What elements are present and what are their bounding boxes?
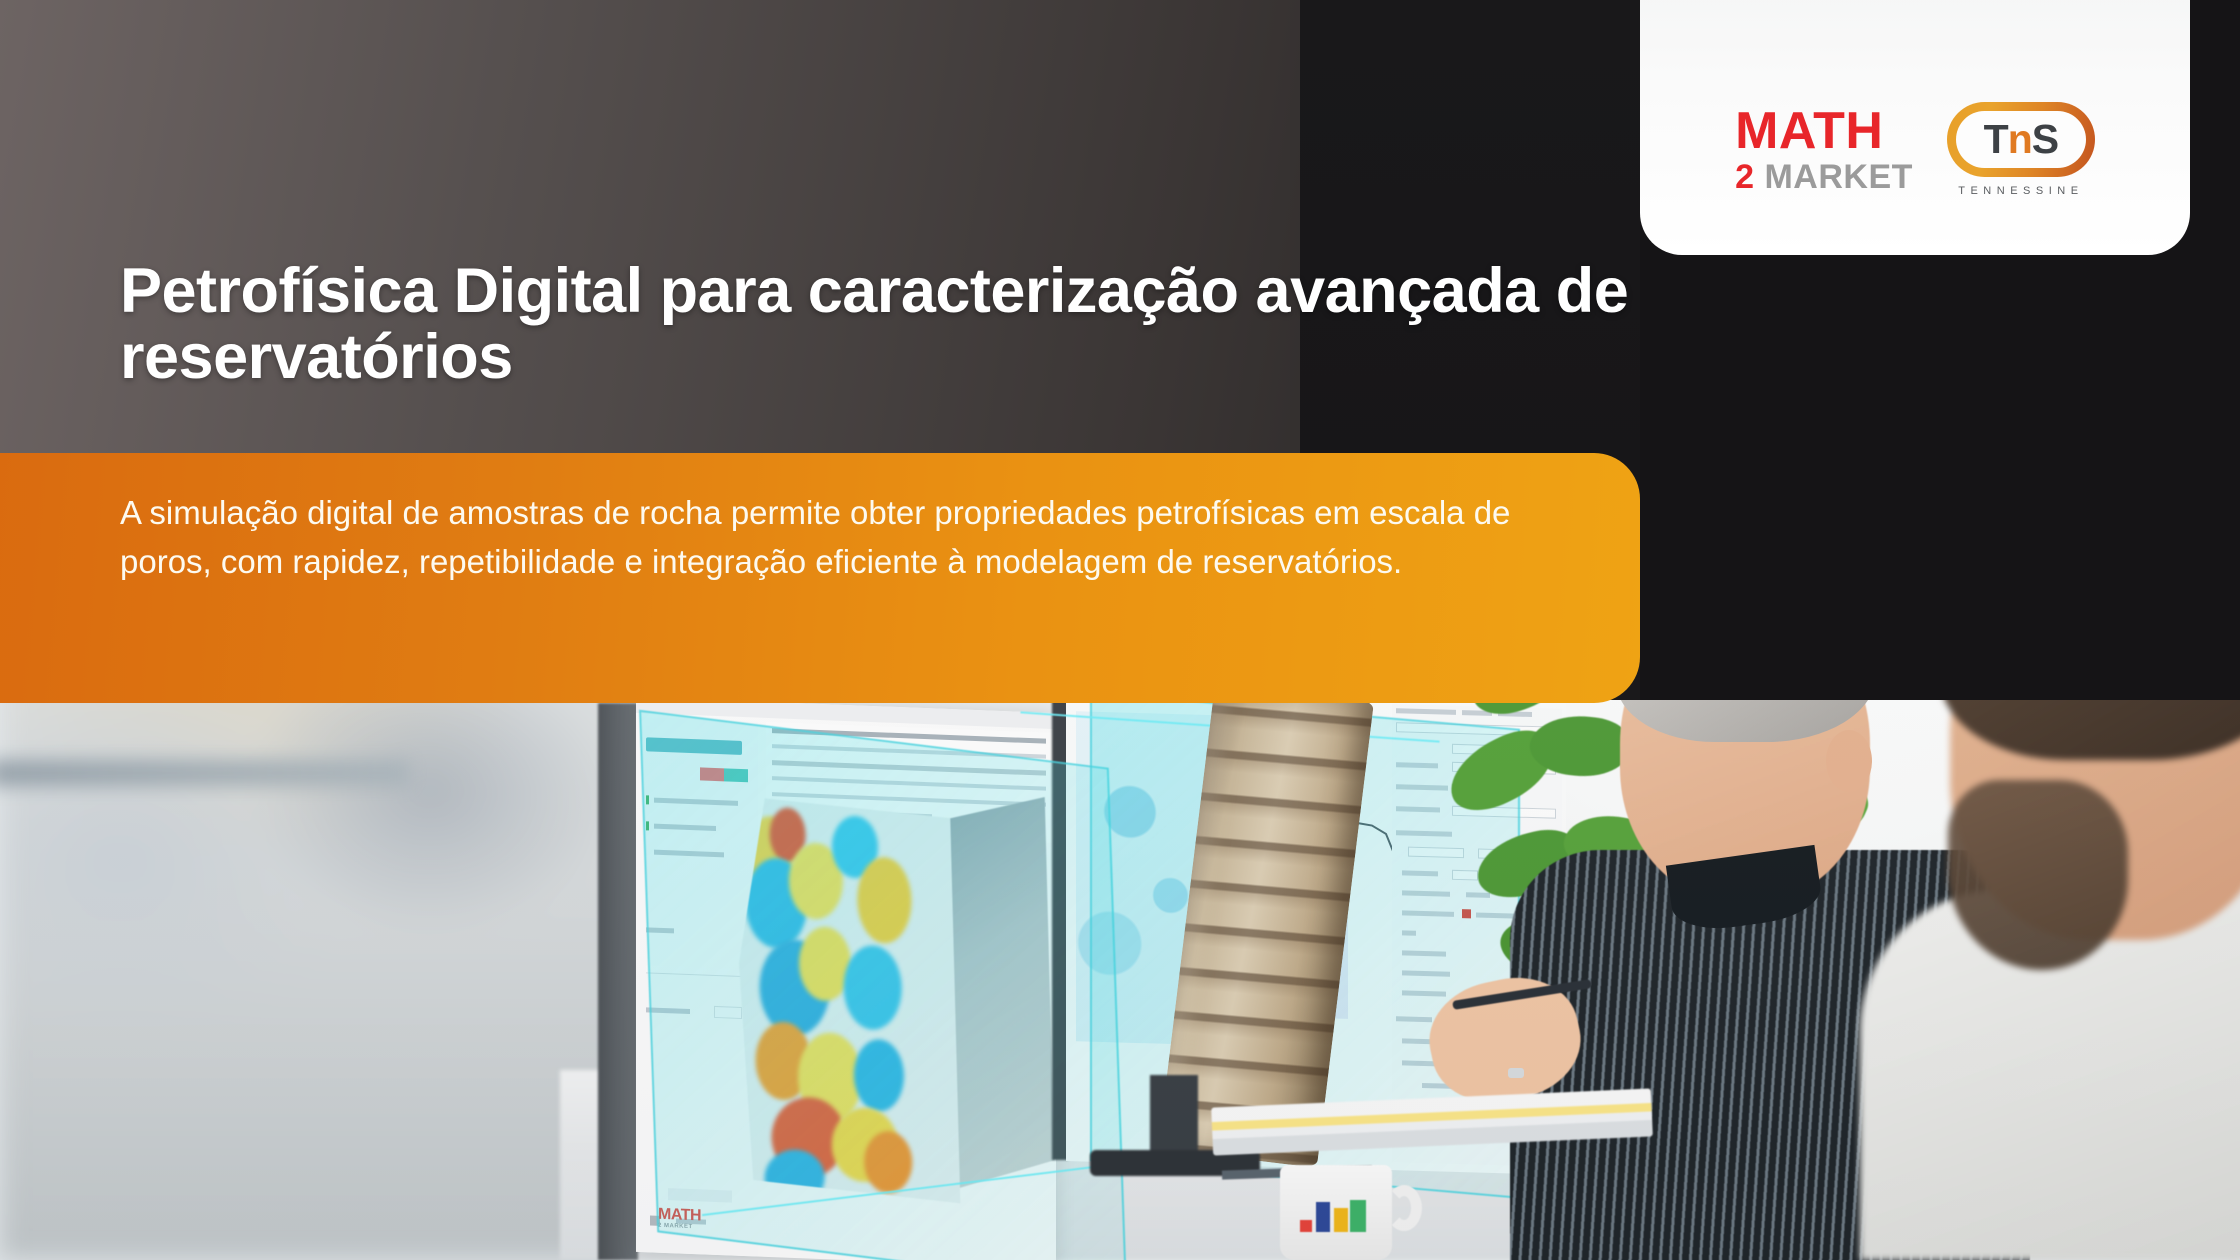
math2market-two: 2 bbox=[1735, 158, 1754, 196]
math2market-line1: MATH bbox=[1735, 105, 1913, 157]
wall-band-blur bbox=[0, 760, 410, 786]
tennessine-letter-n: n bbox=[2008, 116, 2032, 162]
presentation-slide: MATH2 MARKET bbox=[0, 0, 2240, 1260]
orange-banner: A simulação digital de amostras de rocha… bbox=[0, 453, 1640, 703]
tennessine-pill-outline: TnS bbox=[1947, 102, 2095, 177]
tennessine-wordmark: TENNESSINE bbox=[1958, 185, 2083, 197]
mug-handle bbox=[1386, 1185, 1422, 1231]
math2market-line2: 2 MARKET bbox=[1735, 160, 1913, 194]
ear bbox=[1826, 730, 1872, 792]
left-monitor-bezel bbox=[598, 703, 638, 1260]
mug-graphic bbox=[1300, 1198, 1370, 1242]
monitor-neck bbox=[1150, 1075, 1198, 1160]
wedding-ring bbox=[1508, 1068, 1524, 1078]
slide-body-text: A simulação digital de amostras de rocha… bbox=[120, 489, 1550, 587]
logo-card: MATH 2 MARKET TnS TENNESSINE bbox=[1640, 0, 2190, 255]
tennessine-mark: TnS bbox=[1984, 119, 2058, 160]
math2market-market: MARKET bbox=[1755, 158, 1913, 196]
tennessine-logo: TnS TENNESSINE bbox=[1947, 102, 2095, 197]
math2market-logo: MATH 2 MARKET bbox=[1735, 105, 1913, 194]
logo-row: MATH 2 MARKET TnS TENNESSINE bbox=[1735, 102, 2095, 197]
holographic-plane-left bbox=[639, 710, 1127, 1260]
tennessine-letter-t: T bbox=[1984, 116, 2008, 162]
slide-title: Petrofísica Digital para caracterização … bbox=[120, 258, 1640, 390]
tennessine-letter-s: S bbox=[2032, 116, 2058, 162]
